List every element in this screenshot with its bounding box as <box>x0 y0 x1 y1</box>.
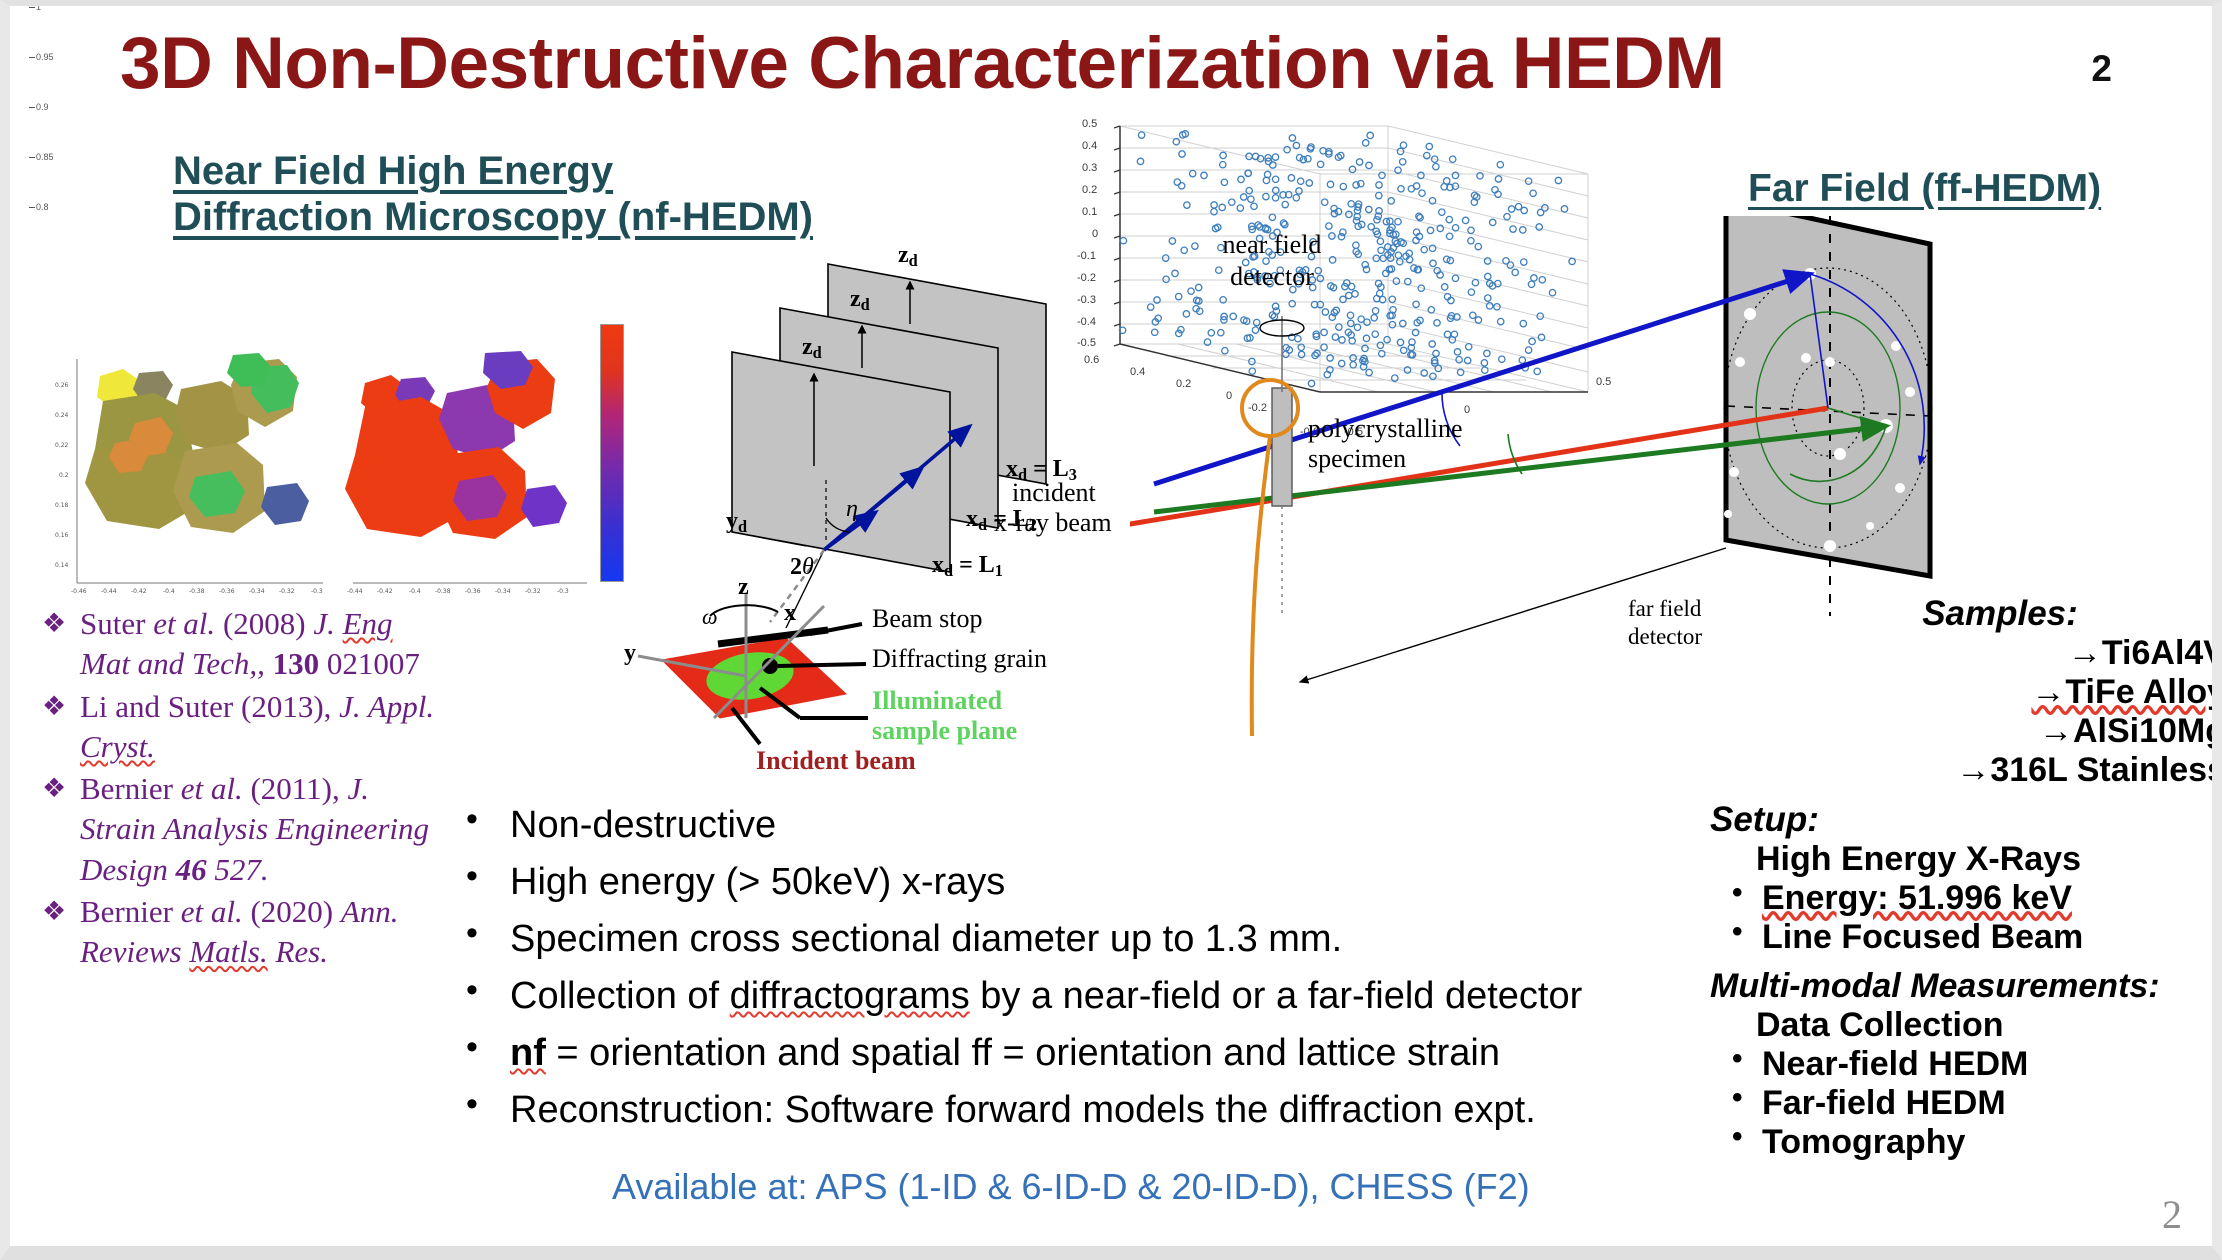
bullet-text: Non-destructive <box>510 804 776 846</box>
colorbar-tick: 0.85 <box>36 152 54 162</box>
label-2theta: 2θ <box>790 554 814 581</box>
svg-text:0.2: 0.2 <box>59 472 69 479</box>
multimodal-heading: Multi-modal Measurements: <box>1710 967 2222 1006</box>
svg-text:-0.34: -0.34 <box>495 588 511 595</box>
z-tick: -0.3 <box>1077 294 1096 306</box>
bullet-item: Reconstruction: Software forward models … <box>458 1091 1708 1129</box>
callout-sample-plane: sample plane <box>872 716 1017 746</box>
label-zd-back: zd <box>898 242 918 271</box>
page-number-top: 2 <box>2091 48 2112 90</box>
colorbar-tick: 0.8 <box>36 202 49 212</box>
bullet-text-nf: nf <box>510 1032 546 1074</box>
svg-text:-0.34: -0.34 <box>249 588 265 595</box>
bullet-text: High energy (> 50keV) x-rays <box>510 861 1005 903</box>
sample-item: →TiFe Alloy <box>2031 673 2222 711</box>
label-near-field-detector-line1: near field <box>1172 230 1372 260</box>
svg-text:-0.36: -0.36 <box>219 588 235 595</box>
svg-text:-0.32: -0.32 <box>279 588 295 595</box>
svg-text:0.16: 0.16 <box>55 532 69 539</box>
bullet-item: Specimen cross sectional diameter up to … <box>458 920 1708 958</box>
z-tick: -0.4 <box>1077 316 1096 328</box>
multimodal-item: Tomography <box>1710 1123 2222 1162</box>
heading-near-field: Near Field High Energy Diffraction Micro… <box>173 148 813 241</box>
z-tick: 0.4 <box>1082 140 1097 152</box>
svg-text:-0.38: -0.38 <box>435 588 451 595</box>
heading-far-field: Far Field (ff-HEDM) <box>1748 166 2101 211</box>
svg-text:-0.36: -0.36 <box>465 588 481 595</box>
multimodal-item: Near-field HEDM <box>1710 1045 2222 1084</box>
x-tick: 0.6 <box>1084 354 1099 366</box>
label-incident-line2: x-ray beam <box>994 508 1112 538</box>
svg-text:-0.42: -0.42 <box>131 588 147 595</box>
setup-heading: Setup: <box>1710 800 2222 840</box>
svg-text:0.18: 0.18 <box>55 502 69 509</box>
svg-text:-0.4: -0.4 <box>409 588 421 595</box>
label-zd-mid: zd <box>850 286 870 315</box>
samples-heading: Samples: <box>1710 594 2222 634</box>
label-axis-y: y <box>624 640 636 667</box>
reference-item: Bernier et al. (2020) Ann. Reviews Matls… <box>28 892 448 973</box>
label-yd: yd <box>726 508 747 537</box>
feature-bullet-list: Non-destructive High energy (> 50keV) x-… <box>458 806 1708 1148</box>
z-tick: -0.1 <box>1077 250 1096 262</box>
label-omega: ω <box>702 604 718 630</box>
bullet-text: Specimen cross sectional diameter up to … <box>510 918 1342 960</box>
svg-text:-0.46: -0.46 <box>71 588 87 595</box>
label-incident-line1: incident <box>1012 478 1096 508</box>
label-xd-l1: xd = L1 <box>932 552 1003 581</box>
svg-text:0.26: 0.26 <box>55 382 69 389</box>
setup-item: Energy: 51.996 keV <box>1762 879 2072 917</box>
reference-item: Bernier et al. (2011), J. Strain Analysi… <box>28 769 448 890</box>
multimodal-item: Far-field HEDM <box>1710 1084 2222 1123</box>
colorbar-tick: 0.95 <box>36 52 54 62</box>
colorbar-tick: 0.9 <box>36 102 49 112</box>
availability-footer: Available at: APS (1-ID & 6-ID-D & 20-ID… <box>612 1166 1530 1208</box>
reference-item: Suter et al. (2008) J. Eng Mat and Tech,… <box>28 604 448 685</box>
z-tick: 0 <box>1092 228 1098 240</box>
z-tick: 0.3 <box>1082 162 1097 174</box>
colorbar-tick: 1 <box>36 2 41 12</box>
bullet-item: High energy (> 50keV) x-rays <box>458 863 1708 901</box>
bullet-item: nf = orientation and spatial ff = orient… <box>458 1034 1708 1072</box>
multimodal-main: Data Collection <box>1710 1006 2222 1045</box>
svg-text:-0.44: -0.44 <box>101 588 117 595</box>
right-info-panel: Samples: →Ti6Al4V →TiFe Alloy →AlSi10Mg … <box>1710 594 2222 1162</box>
label-polycrystalline-line1: polycrystalline <box>1308 414 1463 444</box>
svg-text:-0.4: -0.4 <box>163 588 175 595</box>
callout-incident-beam: Incident beam <box>756 746 916 776</box>
bullet-item: Non-destructive <box>458 806 1708 844</box>
bullet-text-post: = orientation and spatial ff = orientati… <box>546 1032 1500 1074</box>
z-tick: -0.5 <box>1077 337 1096 349</box>
label-axis-x: x <box>784 600 796 627</box>
svg-text:-0.3: -0.3 <box>557 588 569 595</box>
orientation-maps: 0.260.24 0.220.2 0.180.16 0.14 -0.46-0.4… <box>35 331 635 601</box>
reference-list: Suter et al. (2008) J. Eng Mat and Tech,… <box>28 604 448 975</box>
bullet-text-misspelled: diffractograms <box>730 975 970 1017</box>
bullet-text-pre: Collection of <box>510 975 730 1017</box>
orientation-map-svg: 0.260.24 0.220.2 0.180.16 0.14 -0.46-0.4… <box>35 331 635 603</box>
sample-item: →316L Stainless <box>1710 751 2222 790</box>
svg-text:-0.38: -0.38 <box>189 588 205 595</box>
bullet-item: Collection of diffractograms by a near-f… <box>458 977 1708 1015</box>
svg-text:-0.42: -0.42 <box>377 588 393 595</box>
callout-diffracting-grain: Diffracting grain <box>872 644 1047 674</box>
page-number-bottom: 2 <box>2162 1191 2182 1238</box>
z-tick: -0.2 <box>1077 272 1096 284</box>
callout-beam-stop: Beam stop <box>872 604 983 634</box>
label-zd-front: zd <box>802 334 822 363</box>
setup-main: High Energy X-Rays <box>1710 840 2222 879</box>
slide-canvas: 3D Non-Destructive Characterization via … <box>0 0 2222 1260</box>
sample-item: →AlSi10Mg <box>1710 712 2222 751</box>
svg-text:0.24: 0.24 <box>55 412 69 419</box>
label-polycrystalline-line2: specimen <box>1308 444 1406 474</box>
svg-text:0.22: 0.22 <box>55 442 69 449</box>
svg-text:0.14: 0.14 <box>55 562 69 569</box>
bullet-text: Reconstruction: Software forward models … <box>510 1089 1536 1131</box>
svg-text:-0.32: -0.32 <box>525 588 541 595</box>
svg-text:-0.44: -0.44 <box>347 588 363 595</box>
bullet-text-post: by a near-field or a far-field detector <box>970 975 1583 1017</box>
z-tick: 0.1 <box>1082 206 1097 218</box>
z-tick: 0.5 <box>1082 118 1097 130</box>
z-tick: 0.2 <box>1082 184 1097 196</box>
label-far-field-line1: far field <box>1628 596 1701 622</box>
callout-illuminated: Illuminated <box>872 686 1002 716</box>
page-title: 3D Non-Destructive Characterization via … <box>120 22 2080 105</box>
label-far-field-line2: detector <box>1628 624 1702 650</box>
reference-item: Li and Suter (2013), J. Appl. Cryst. <box>28 687 448 768</box>
label-axis-z: z <box>738 574 749 601</box>
svg-text:-0.3: -0.3 <box>311 588 323 595</box>
label-eta: η <box>846 496 858 523</box>
setup-item: Line Focused Beam <box>1710 918 2222 957</box>
label-near-field-detector-line2: detector <box>1172 262 1372 292</box>
sample-item: →Ti6Al4V <box>1710 634 2222 673</box>
